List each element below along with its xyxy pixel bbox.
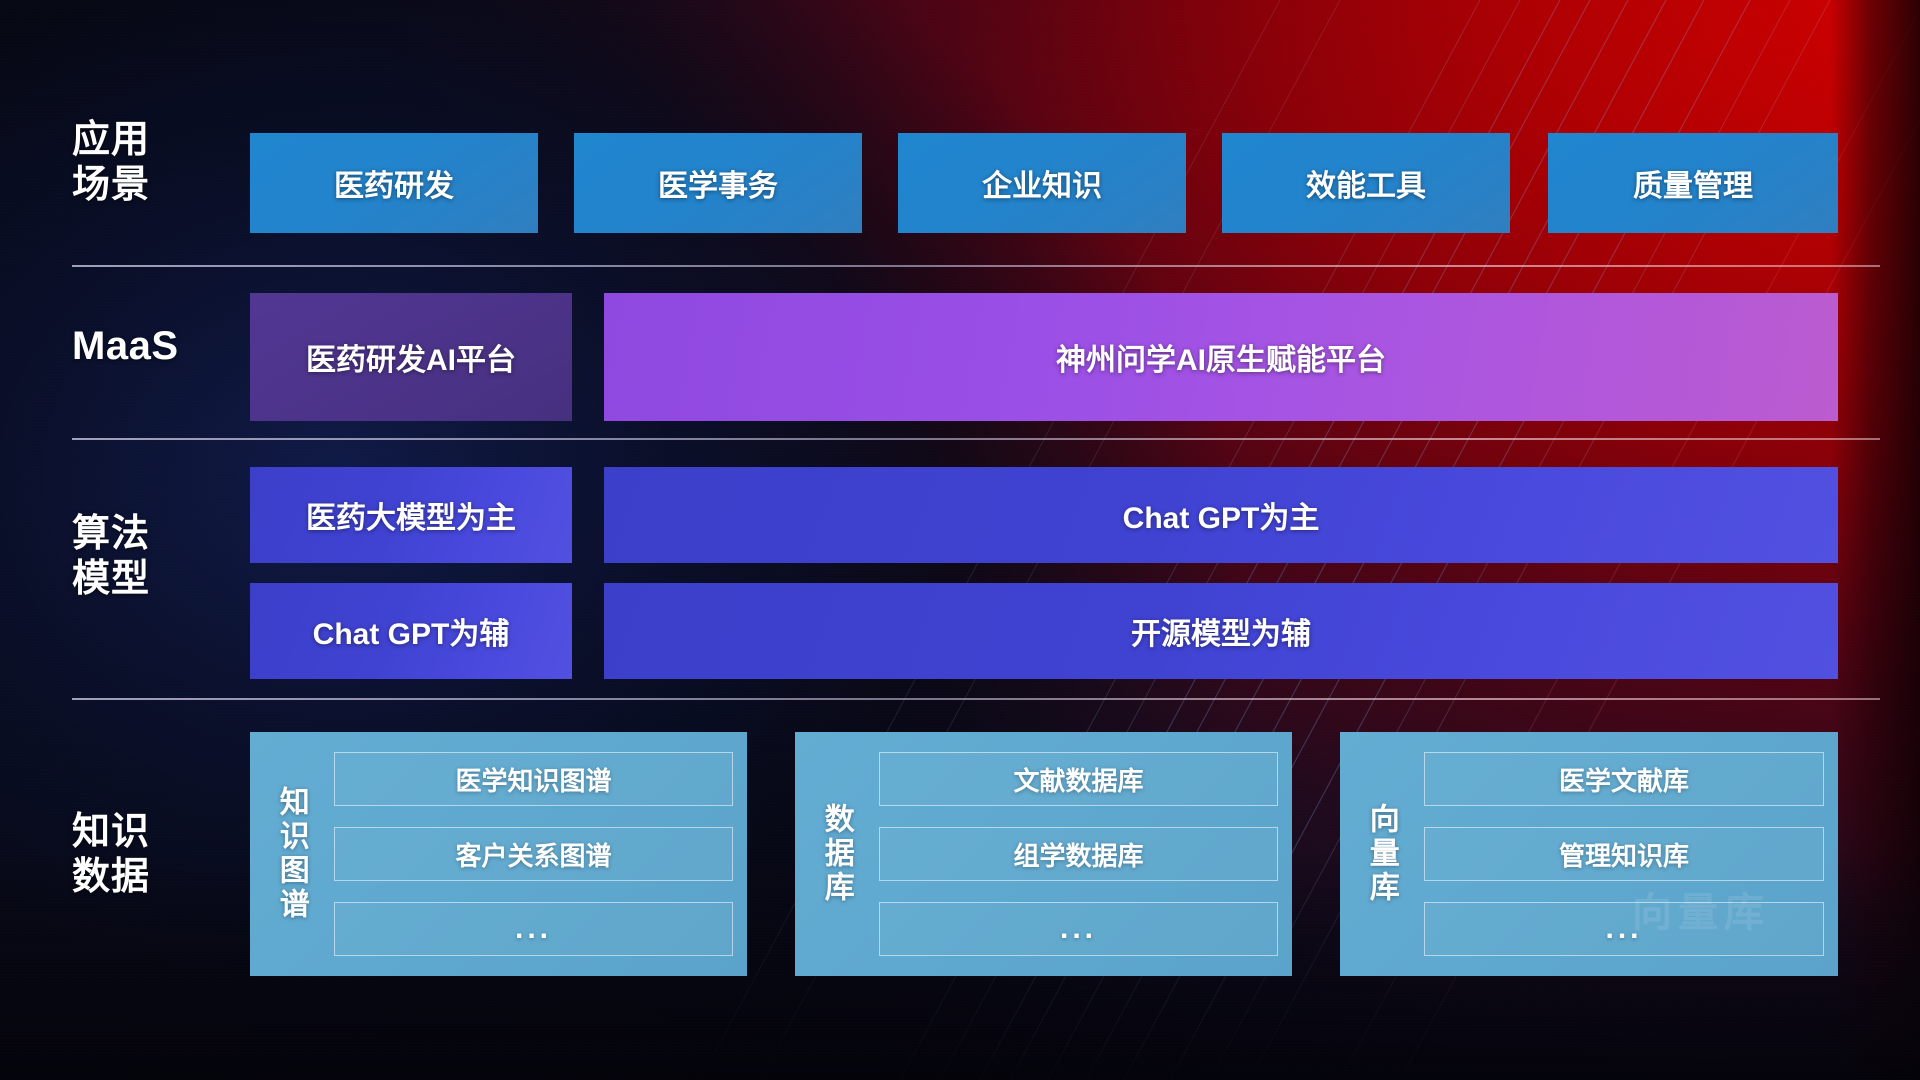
knowledge-group-knowledge-graph-items: 医学知识图谱 客户关系图谱 ... — [322, 744, 733, 964]
knowledge-item-label: 文献数据库 — [1013, 761, 1143, 798]
knowledge-item-more[interactable]: ... — [879, 902, 1278, 956]
application-box-4[interactable]: 效能工具 — [1222, 133, 1510, 233]
algorithm-box-opensource-secondary-label: 开源模型为辅 — [1131, 609, 1311, 653]
knowledge-item-label: 管理知识库 — [1559, 836, 1689, 873]
algorithm-box-chatgpt-primary-label: Chat GPT为主 — [1123, 493, 1320, 537]
knowledge-item-more[interactable]: ... — [1424, 902, 1824, 956]
knowledge-group-database-title: 数据库 — [805, 744, 867, 964]
knowledge-item-more[interactable]: ... — [334, 902, 733, 956]
row-label-knowledge-line2: 数据 — [72, 855, 202, 900]
divider-application-maas — [72, 265, 1880, 267]
algorithm-box-chatgpt-secondary-label: Chat GPT为辅 — [313, 609, 510, 653]
knowledge-item[interactable]: 管理知识库 — [1424, 827, 1824, 881]
knowledge-item-label: 组学数据库 — [1013, 836, 1143, 873]
application-box-3[interactable]: 企业知识 — [898, 133, 1186, 233]
application-box-1[interactable]: 医药研发 — [250, 133, 538, 233]
algorithm-box-chatgpt-secondary[interactable]: Chat GPT为辅 — [250, 583, 572, 679]
knowledge-group-knowledge-graph-title: 知识图谱 — [260, 744, 322, 964]
knowledge-group-vector-store-title: 向量库 — [1350, 744, 1412, 964]
algorithm-box-drug-model-primary-label: 医药大模型为主 — [306, 493, 516, 537]
maas-box-shenzhou-platform[interactable]: 神州问学AI原生赋能平台 — [604, 293, 1838, 421]
maas-box-drug-rnd-platform-label: 医药研发AI平台 — [306, 335, 516, 379]
maas-box-drug-rnd-platform[interactable]: 医药研发AI平台 — [250, 293, 572, 421]
knowledge-item[interactable]: 客户关系图谱 — [334, 827, 733, 881]
algorithm-box-opensource-secondary[interactable]: 开源模型为辅 — [604, 583, 1838, 679]
knowledge-group-vector-store-items: 医学文献库 管理知识库 ... — [1412, 744, 1824, 964]
slide-canvas: 应用 场景 医药研发 医学事务 企业知识 效能工具 质量管理 MaaS 医药研发… — [0, 0, 1920, 1080]
knowledge-group-vector-store[interactable]: 向量库 医学文献库 管理知识库 ... — [1340, 732, 1838, 976]
row-label-algorithm-line2: 模型 — [72, 557, 202, 602]
knowledge-item-label: 医学文献库 — [1559, 761, 1689, 798]
row-label-maas-line1: MaaS — [72, 323, 202, 370]
row-label-knowledge: 知识 数据 — [72, 810, 202, 900]
algorithm-box-drug-model-primary[interactable]: 医药大模型为主 — [250, 467, 572, 563]
knowledge-item[interactable]: 文献数据库 — [879, 752, 1278, 806]
knowledge-group-knowledge-graph[interactable]: 知识图谱 医学知识图谱 客户关系图谱 ... — [250, 732, 747, 976]
row-label-algorithm: 算法 模型 — [72, 512, 202, 602]
divider-maas-algorithm — [72, 438, 1880, 440]
application-box-1-label: 医药研发 — [334, 161, 454, 205]
knowledge-group-database-items: 文献数据库 组学数据库 ... — [867, 744, 1278, 964]
knowledge-item-label: ... — [515, 912, 552, 946]
knowledge-item[interactable]: 组学数据库 — [879, 827, 1278, 881]
row-label-maas: MaaS — [72, 323, 202, 370]
knowledge-item-label: ... — [1605, 912, 1642, 946]
knowledge-item-label: ... — [1060, 912, 1097, 946]
application-box-2-label: 医学事务 — [658, 161, 778, 205]
application-box-2[interactable]: 医学事务 — [574, 133, 862, 233]
application-box-5[interactable]: 质量管理 — [1548, 133, 1838, 233]
row-label-knowledge-line1: 知识 — [72, 810, 202, 855]
divider-algorithm-knowledge — [72, 698, 1880, 700]
knowledge-group-database[interactable]: 数据库 文献数据库 组学数据库 ... — [795, 732, 1292, 976]
knowledge-item-label: 医学知识图谱 — [455, 761, 611, 798]
application-box-3-label: 企业知识 — [982, 161, 1102, 205]
knowledge-item-label: 客户关系图谱 — [455, 836, 611, 873]
row-label-application: 应用 场景 — [72, 118, 202, 208]
knowledge-item[interactable]: 医学文献库 — [1424, 752, 1824, 806]
maas-box-shenzhou-platform-label: 神州问学AI原生赋能平台 — [1056, 335, 1386, 379]
application-box-5-label: 质量管理 — [1633, 161, 1753, 205]
application-box-4-label: 效能工具 — [1306, 161, 1426, 205]
row-label-application-line2: 场景 — [72, 163, 202, 208]
row-label-application-line1: 应用 — [72, 118, 202, 163]
row-label-algorithm-line1: 算法 — [72, 512, 202, 557]
algorithm-box-chatgpt-primary[interactable]: Chat GPT为主 — [604, 467, 1838, 563]
knowledge-item[interactable]: 医学知识图谱 — [334, 752, 733, 806]
diagram-content: 应用 场景 医药研发 医学事务 企业知识 效能工具 质量管理 MaaS 医药研发… — [0, 0, 1920, 1080]
